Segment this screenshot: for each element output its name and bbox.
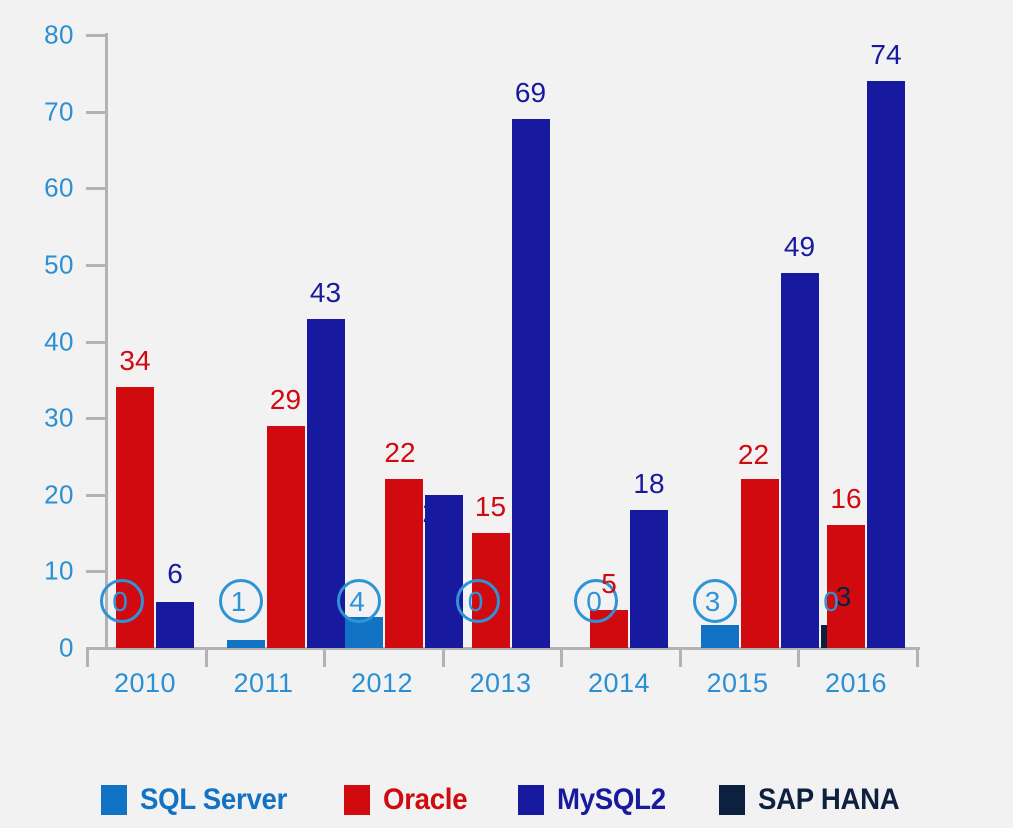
bar-oracle-2011[interactable] — [267, 426, 305, 648]
legend-swatch-icon — [101, 785, 127, 815]
legend-item-sap-hana[interactable]: SAP HANA — [719, 783, 912, 817]
value-label: 16 — [830, 483, 861, 515]
value-label: 18 — [633, 468, 664, 500]
value-label: 15 — [475, 491, 506, 523]
bars-layer — [0, 0, 1013, 648]
value-label: 22 — [738, 439, 769, 471]
bar-mysql2-2014[interactable] — [630, 510, 668, 648]
value-label: 49 — [784, 231, 815, 263]
value-label: 0 — [586, 586, 602, 618]
value-label: 0 — [468, 586, 484, 618]
x-tick — [323, 650, 326, 667]
value-label: 0 — [823, 586, 839, 618]
legend-swatch-icon — [518, 785, 544, 815]
value-label: 4 — [349, 586, 365, 618]
bar-mysql2-2013[interactable] — [512, 119, 550, 648]
value-label: 0 — [112, 586, 128, 618]
legend-item-oracle[interactable]: Oracle — [344, 783, 475, 817]
value-label: 34 — [119, 345, 150, 377]
bar-mysql2-2010[interactable] — [156, 602, 194, 648]
x-tick — [916, 650, 919, 667]
bar-oracle-2015[interactable] — [741, 479, 779, 648]
value-label: 20 — [422, 497, 453, 529]
value-label: 29 — [270, 384, 301, 416]
bar-oracle-2012[interactable] — [385, 479, 423, 648]
x-tick — [205, 650, 208, 667]
x-tick — [86, 650, 89, 667]
value-label: 1 — [231, 586, 247, 618]
x-tick — [560, 650, 563, 667]
value-label: 6 — [167, 558, 183, 590]
value-label: 43 — [310, 277, 341, 309]
bar-sql-server-2015[interactable] — [701, 625, 739, 648]
x-axis-tick-label: 2010 — [114, 668, 176, 699]
legend-label: SQL Server — [140, 783, 287, 817]
x-axis-tick-label: 2011 — [233, 668, 293, 699]
x-axis-tick-label: 2014 — [588, 668, 650, 699]
legend-label: SAP HANA — [758, 783, 899, 817]
x-axis-tick-label: 2016 — [825, 668, 887, 699]
x-axis-tick-label: 2015 — [706, 668, 768, 699]
x-tick — [797, 650, 800, 667]
x-axis-tick-label: 2013 — [469, 668, 531, 699]
value-label: 5 — [601, 568, 617, 600]
bar-chart: 01020304050607080 2010201120122013201420… — [0, 0, 1013, 828]
legend-swatch-icon — [719, 785, 745, 815]
value-label: 69 — [515, 77, 546, 109]
value-label: 74 — [870, 39, 901, 71]
bar-mysql2-2016[interactable] — [867, 81, 905, 648]
legend-label: MySQL2 — [557, 783, 666, 817]
x-axis-tick-label: 2012 — [351, 668, 413, 699]
x-tick — [679, 650, 682, 667]
legend-item-sql-server[interactable]: SQL Server — [101, 783, 300, 817]
x-tick — [442, 650, 445, 667]
legend-item-mysql2[interactable]: MySQL2 — [518, 783, 675, 817]
chart-legend: SQL ServerOracleMySQL2SAP HANA — [0, 772, 1013, 828]
value-label: 3 — [705, 586, 721, 618]
bar-mysql2-2015[interactable] — [781, 273, 819, 648]
bar-sql-server-2011[interactable] — [227, 640, 265, 648]
legend-swatch-icon — [344, 785, 370, 815]
value-label: 22 — [384, 437, 415, 469]
legend-label: Oracle — [383, 783, 467, 817]
